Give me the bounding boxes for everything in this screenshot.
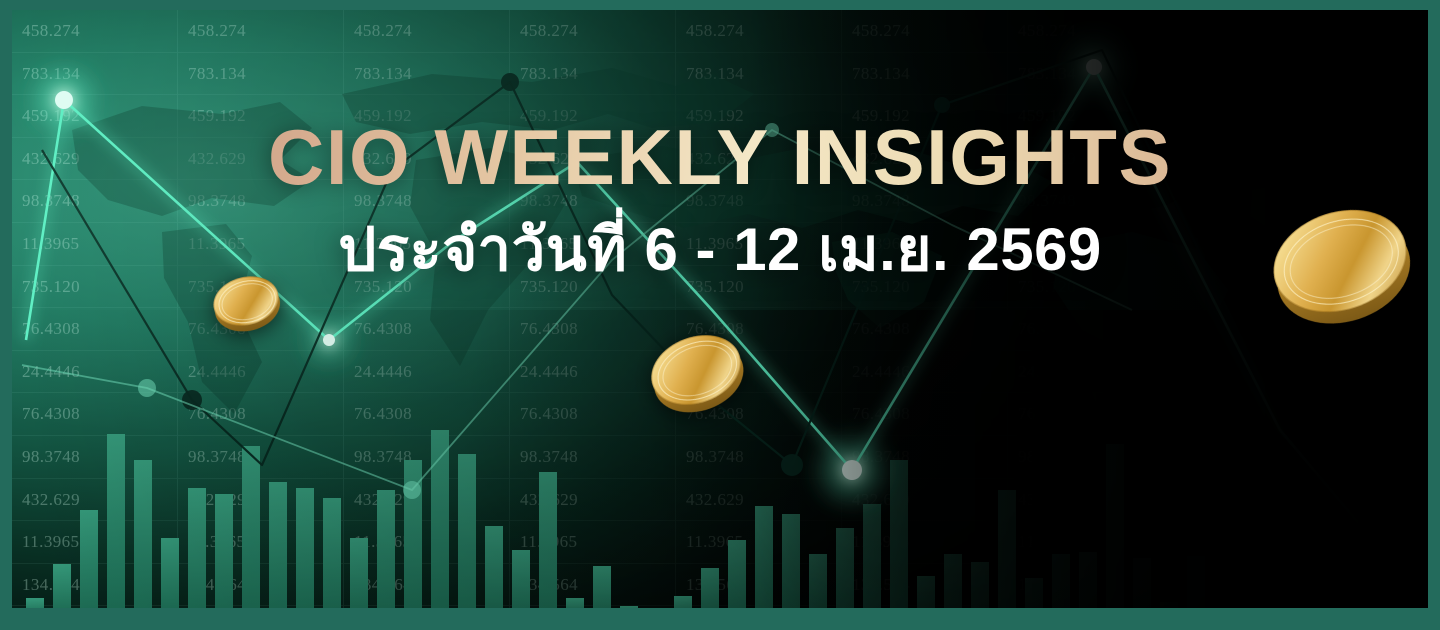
banner-artwork-stage: 458.274783.134459.192432.62998.374811.39… [12, 10, 1428, 608]
cio-weekly-insights-banner: 458.274783.134459.192432.62998.374811.39… [0, 0, 1440, 630]
coin-medium-center [641, 323, 750, 416]
gold-coins-layer [12, 10, 1428, 608]
date-range-subtitle: ประจำวันที่ 6 - 12 เม.ย. 2569 [0, 220, 1440, 280]
page-title: CIO WEEKLY INSIGHTS [0, 118, 1440, 196]
banner-text-block: CIO WEEKLY INSIGHTS ประจำวันที่ 6 - 12 เ… [0, 118, 1440, 280]
